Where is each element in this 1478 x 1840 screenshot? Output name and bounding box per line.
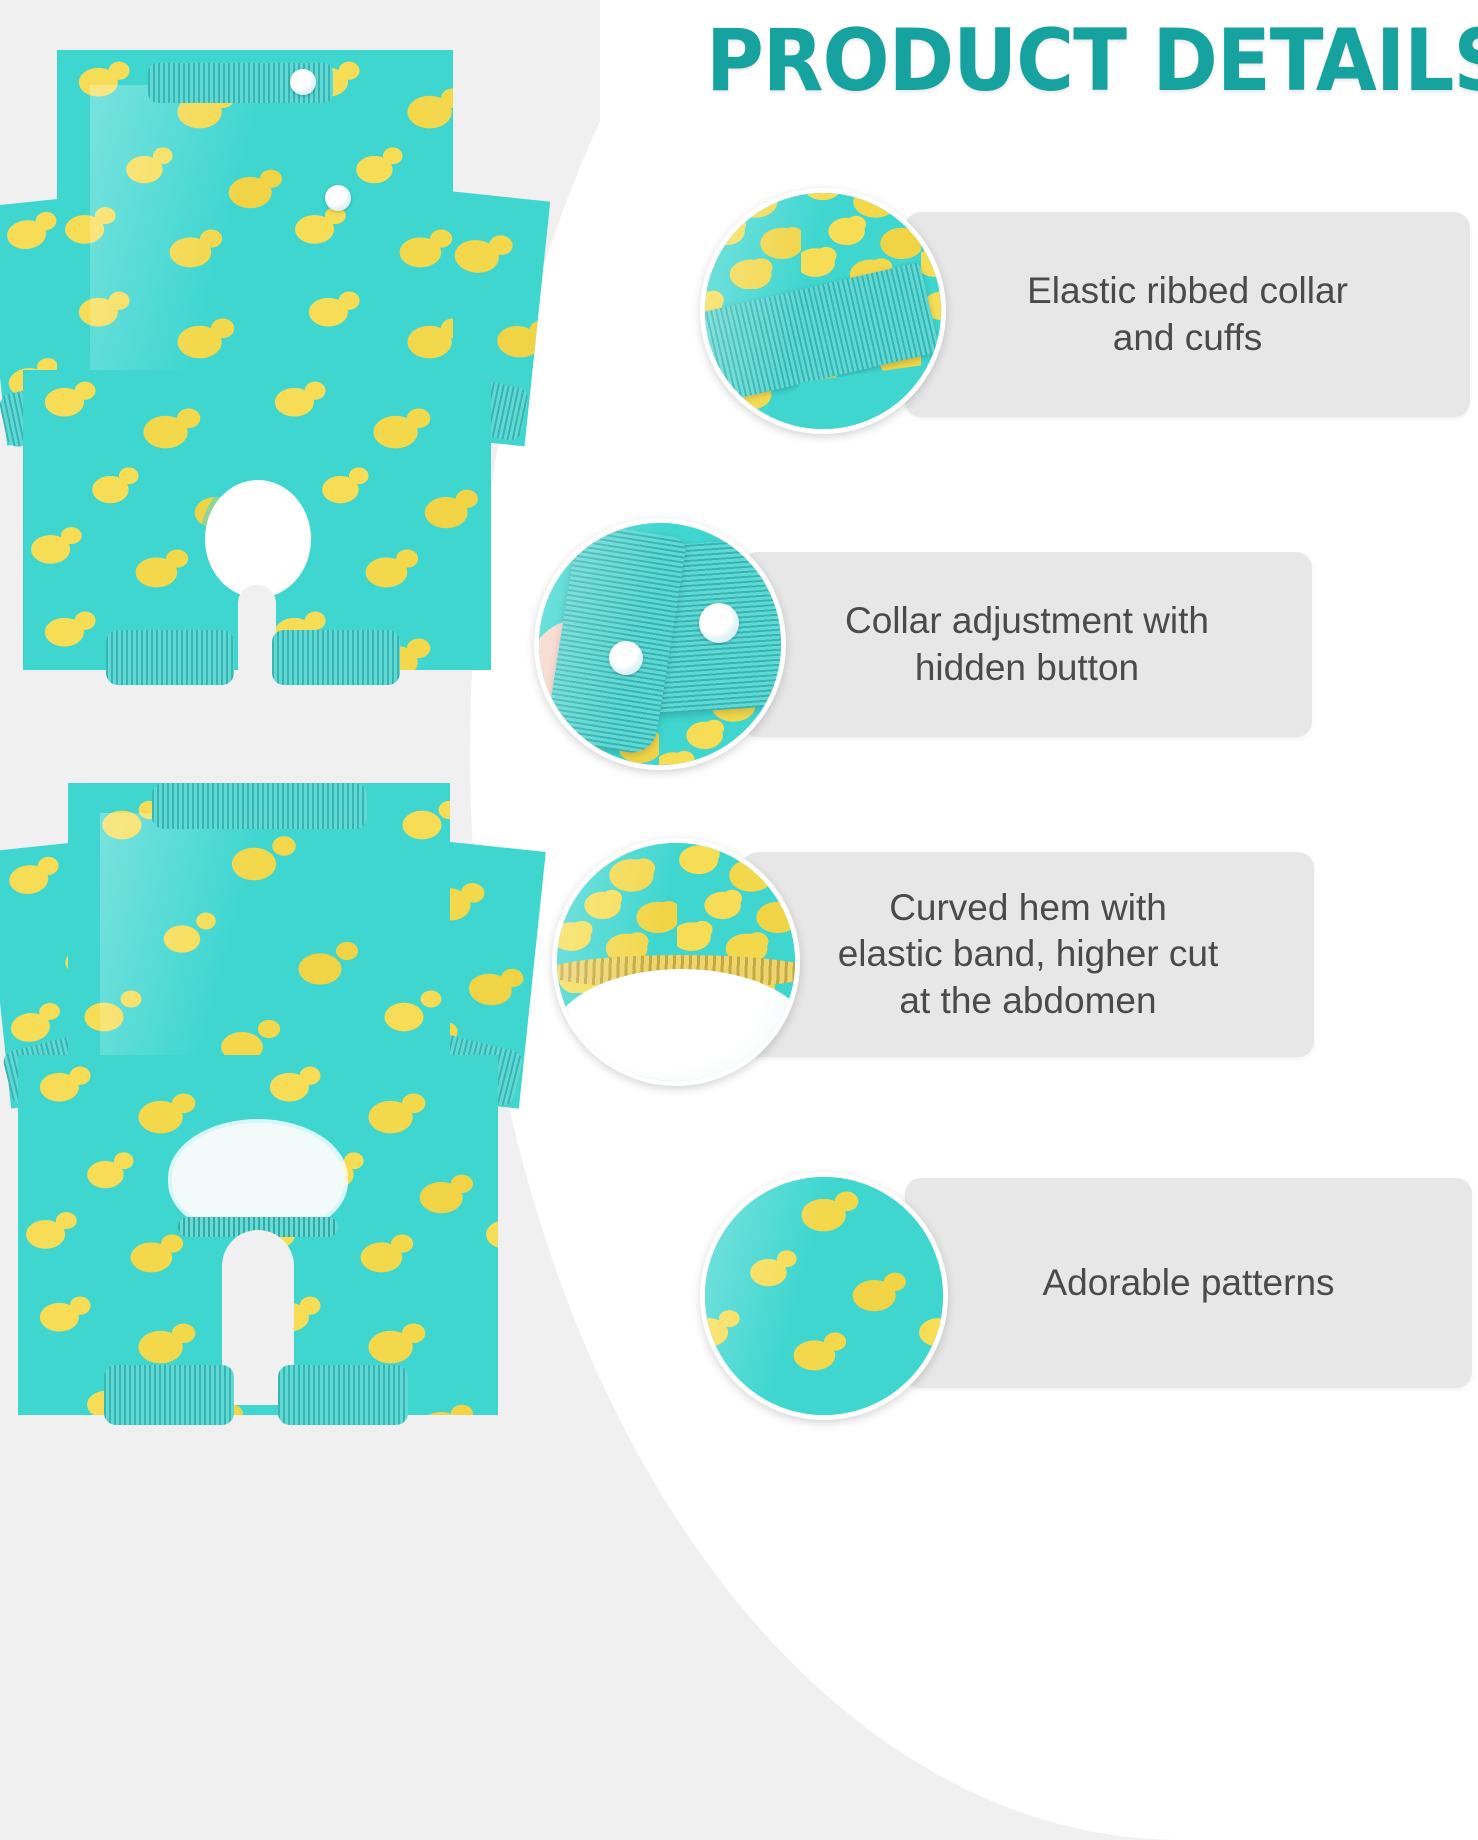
left-leg-cuff (104, 1365, 234, 1425)
collar (152, 783, 367, 829)
detail-photo-hidden-button[interactable] (534, 518, 786, 770)
detail-text-4: Adorable patterns (1016, 1260, 1360, 1307)
detail-photo-curved-hem[interactable] (552, 838, 800, 1086)
belly-opening (205, 480, 311, 598)
photo-content (705, 193, 941, 429)
hidden-snap-button-left (609, 641, 643, 675)
detail-text-3: Curved hem with elastic band, higher cut… (812, 885, 1245, 1025)
leg-gap (238, 585, 276, 685)
right-leg-cuff (272, 630, 400, 685)
left-leg-cuff (106, 630, 234, 685)
right-leg-cuff (278, 1365, 408, 1425)
detail-panel-2: Collar adjustment with hidden button (742, 552, 1312, 737)
detail-text-2: Collar adjustment with hidden button (819, 598, 1235, 691)
duck-print-fabric (700, 1172, 948, 1420)
collar-snap-button-lower (325, 185, 351, 211)
photo-content (705, 1177, 943, 1415)
product-image-pajama-back-view (0, 45, 520, 735)
detail-photo-duck-pattern[interactable] (700, 1172, 948, 1420)
detail-photo-ribbed-cuff[interactable] (700, 188, 946, 434)
photo-content (557, 843, 795, 1081)
collar-snap-button-top (290, 69, 316, 95)
detail-text-1: Elastic ribbed collar and cuffs (1001, 268, 1374, 361)
detail-panel-3: Curved hem with elastic band, higher cut… (742, 852, 1314, 1057)
page-title: PRODUCT DETAILS (706, 18, 1478, 104)
photo-content (539, 523, 781, 765)
detail-panel-1: Elastic ribbed collar and cuffs (905, 212, 1470, 417)
hidden-snap-button-right (699, 603, 739, 643)
product-image-pajama-belly-view (0, 765, 520, 1465)
detail-panel-4: Adorable patterns (905, 1178, 1472, 1388)
